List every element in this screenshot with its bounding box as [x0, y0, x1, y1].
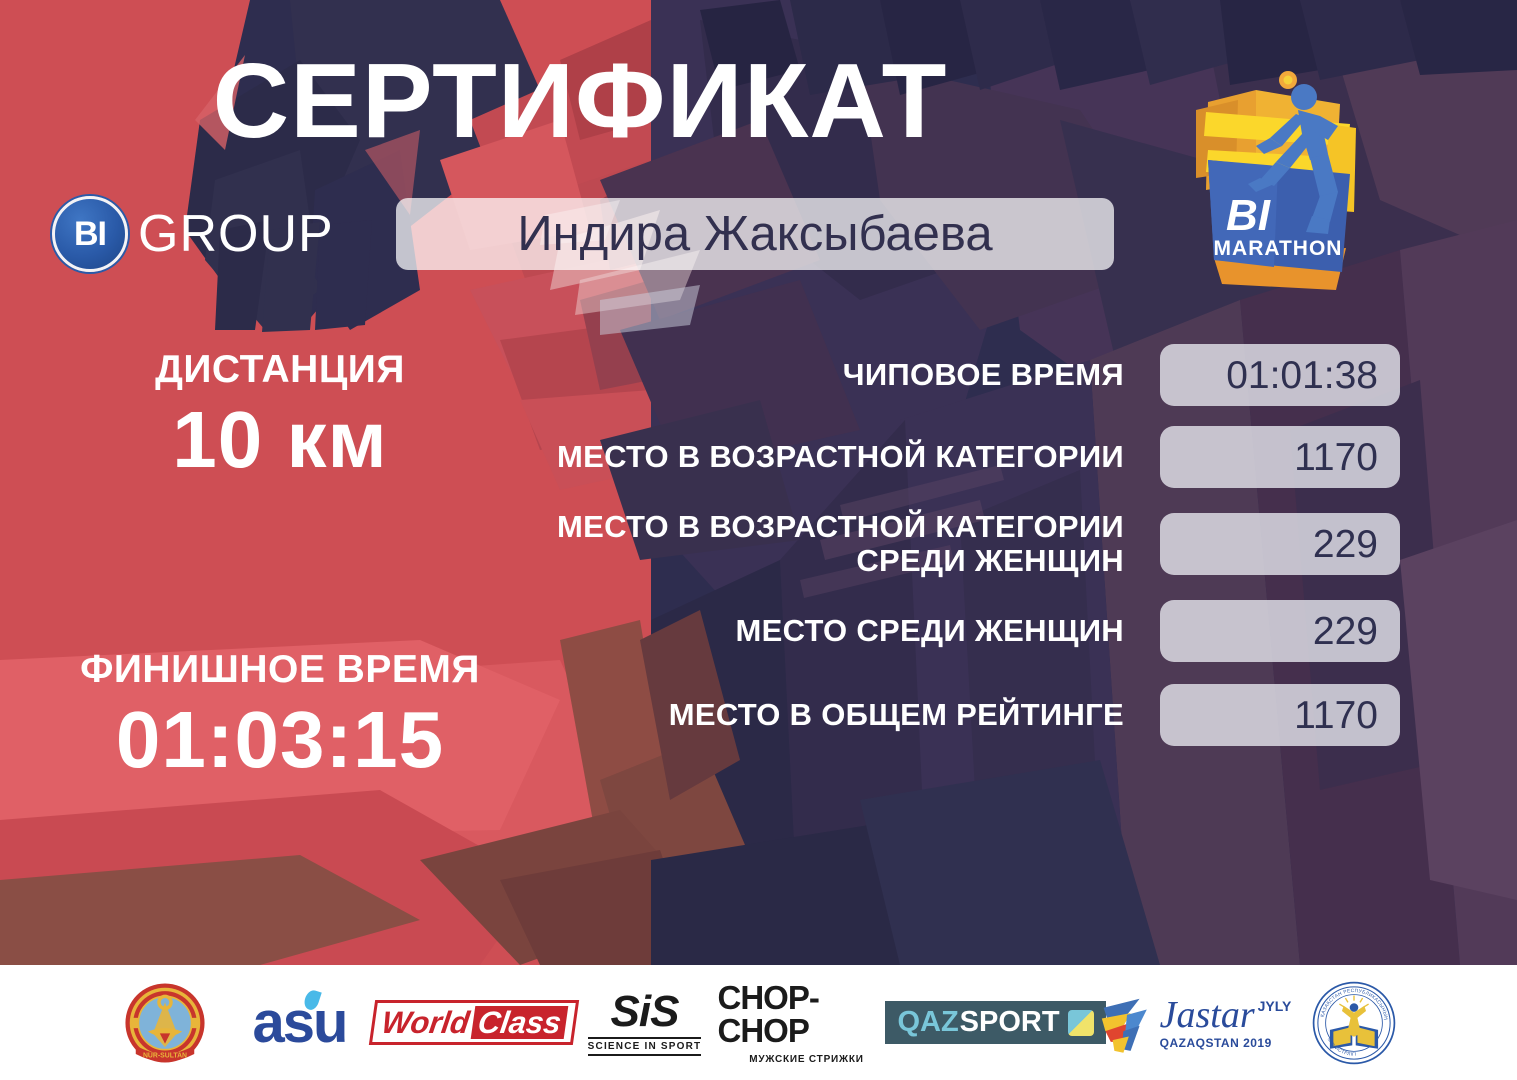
stat-label-age-category-women: МЕСТО В ВОЗРАСТНОЙ КАТЕГОРИИ СРЕДИ ЖЕНЩИ… — [500, 510, 1160, 578]
stat-value-chip-time: 01:01:38 — [1226, 356, 1378, 395]
stat-row: МЕСТО СРЕДИ ЖЕНЩИН 229 — [500, 600, 1400, 662]
sis-wordmark: SiS — [611, 990, 679, 1034]
participant-name-banner: Индира Жаксыбаева — [396, 198, 1114, 270]
asu-wordmark: asu — [253, 994, 347, 1052]
stat-value-age-category-women: 229 — [1313, 525, 1378, 564]
distance-block: ДИСТАНЦИЯ 10 км — [30, 348, 530, 482]
sponsor-jastar-jyly: Jastar JYLY QAZAQSTAN 2019 — [1096, 977, 1296, 1069]
sponsor-nur-sultan-emblem: NUR-SULTAN — [106, 977, 224, 1069]
jastar-wordmark: Jastar — [1160, 996, 1255, 1034]
qazsport-word-b: SPORT — [960, 1008, 1060, 1037]
jastar-bird-icon — [1100, 991, 1154, 1055]
certificate-canvas: СЕРТИФИКАТ BI GROUP Индира Жаксыбаева — [0, 0, 1517, 1080]
sis-tagline: SCIENCE IN SPORT — [588, 1037, 702, 1056]
stat-pill-overall: 1170 — [1160, 684, 1400, 746]
distance-label: ДИСТАНЦИЯ — [30, 348, 530, 392]
stat-value-overall: 1170 — [1294, 696, 1378, 735]
stat-value-women: 229 — [1313, 612, 1378, 651]
world-class-word-b: Class — [470, 1006, 567, 1039]
bi-group-wordmark: GROUP — [138, 208, 334, 260]
stat-row: ЧИПОВОЕ ВРЕМЯ 01:01:38 — [500, 344, 1400, 406]
finish-time-label: ФИНИШНОЕ ВРЕМЯ — [30, 648, 530, 692]
stat-pill-age-category-women: 229 — [1160, 513, 1400, 575]
jastar-subtitle: QAZAQSTAN 2019 — [1160, 1036, 1272, 1050]
jastar-jyly-label: JYLY — [1258, 999, 1292, 1013]
sponsor-qazsport: QAZ SPORT — [896, 977, 1096, 1069]
sponsor-asu: asu — [224, 977, 376, 1069]
finish-time-value: 01:03:15 — [30, 698, 530, 782]
bi-badge-label: BI — [74, 217, 106, 251]
participant-name: Индира Жаксыбаева — [517, 210, 992, 259]
stat-pill-women: 229 — [1160, 600, 1400, 662]
stat-label-age-category: МЕСТО В ВОЗРАСТНОЙ КАТЕГОРИИ — [500, 440, 1160, 474]
chop-chop-tagline: МУЖСКИЕ СТРИЖКИ — [749, 1054, 864, 1065]
stat-label-chip-time: ЧИПОВОЕ ВРЕМЯ — [500, 358, 1160, 392]
stat-label-women: МЕСТО СРЕДИ ЖЕНЩИН — [500, 614, 1160, 648]
sponsor-world-class: World Class — [376, 977, 572, 1069]
bi-badge-icon: BI — [52, 196, 128, 272]
stat-value-age-category: 1170 — [1294, 438, 1378, 477]
stats-list: ЧИПОВОЕ ВРЕМЯ 01:01:38 МЕСТО В ВОЗРАСТНО… — [500, 344, 1400, 768]
stat-row: МЕСТО В ВОЗРАСТНОЙ КАТЕГОРИИ СРЕДИ ЖЕНЩИ… — [500, 510, 1400, 578]
marathon-logo-bi: BI — [1226, 191, 1271, 240]
sponsor-ministry-emblem: ҚАЗАҚСТАН РЕСПУБЛИКАСЫНЫҢ МӘДЕНИЕТ ЖӘНЕ … — [1296, 977, 1412, 1069]
sponsor-footer: NUR-SULTAN asu World Class SiS SCIENCE I… — [0, 965, 1517, 1080]
page-title: СЕРТИФИКАТ — [0, 48, 1160, 154]
bi-marathon-logo: BI MARATHON — [1178, 62, 1378, 302]
qazsport-square-icon — [1068, 1010, 1094, 1036]
sponsor-chop-chop: CHOP-CHOP МУЖСКИЕ СТРИЖКИ — [718, 977, 896, 1069]
stat-label-overall: МЕСТО В ОБЩЕМ РЕЙТИНГЕ — [500, 698, 1160, 732]
qazsport-word-a: QAZ — [897, 1008, 958, 1037]
stat-pill-chip-time: 01:01:38 — [1160, 344, 1400, 406]
distance-value: 10 км — [30, 398, 530, 482]
stat-pill-age-category: 1170 — [1160, 426, 1400, 488]
marathon-logo-marathon: MARATHON — [1214, 237, 1343, 260]
nur-sultan-banner-text: NUR-SULTAN — [142, 1052, 186, 1059]
stat-row: МЕСТО В ВОЗРАСТНОЙ КАТЕГОРИИ 1170 — [500, 426, 1400, 488]
sponsor-sis: SiS SCIENCE IN SPORT — [572, 977, 718, 1069]
finish-time-block: ФИНИШНОЕ ВРЕМЯ 01:03:15 — [30, 648, 530, 782]
world-class-word-a: World — [379, 1007, 471, 1038]
chop-chop-wordmark: CHOP-CHOP — [718, 981, 896, 1047]
stat-row: МЕСТО В ОБЩЕМ РЕЙТИНГЕ 1170 — [500, 684, 1400, 746]
bi-group-logo: BI GROUP — [52, 196, 334, 272]
